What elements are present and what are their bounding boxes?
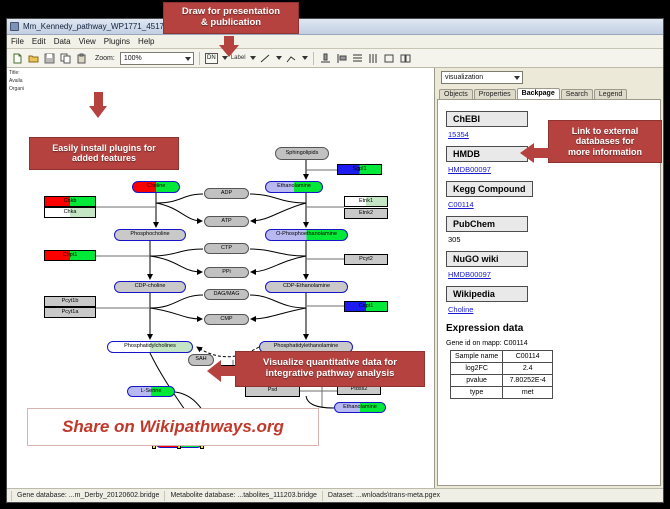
expression-row: log2FC2.4 bbox=[451, 363, 553, 375]
pathway-node-ethanolamine-bottom[interactable]: Ethanolamine bbox=[334, 402, 386, 413]
database-value-hmdb[interactable]: HMDB00097 bbox=[448, 165, 654, 174]
pathway-node-label: Etnk2 bbox=[359, 211, 373, 217]
pathway-node-label: SAH bbox=[195, 357, 206, 363]
pathway-node-label: Phosphocholine bbox=[130, 232, 169, 238]
app-icon bbox=[10, 22, 19, 31]
open-folder-icon[interactable] bbox=[27, 52, 40, 65]
menu-item-view[interactable]: View bbox=[79, 37, 96, 46]
new-file-icon[interactable] bbox=[11, 52, 24, 65]
pathway-node-sgpl1[interactable]: Sgpl1 bbox=[337, 164, 382, 175]
zoom-select[interactable]: 100% bbox=[120, 52, 194, 65]
pathway-node-chpt1[interactable]: Chpt1 bbox=[44, 250, 96, 261]
expression-value: met bbox=[503, 387, 553, 399]
pathway-node-ethanolamine-top[interactable]: Ethanolamine bbox=[265, 181, 323, 193]
pathway-node-label: Ethanolamine bbox=[343, 405, 377, 411]
gene-id-on-mapp: Gene id on mapp: C00114 bbox=[446, 340, 654, 347]
zoom-value: 100% bbox=[124, 55, 142, 62]
pathway-node-sphingolipids[interactable]: Sphingolipids bbox=[275, 147, 329, 160]
pathway-node-label: ATP bbox=[221, 219, 231, 225]
database-header-nugo-wiki: NuGO wiki bbox=[446, 251, 528, 267]
pathway-node-label: Psd bbox=[268, 388, 277, 394]
callout-line: & publication bbox=[167, 18, 295, 29]
pathway-node-chkb[interactable]: Chkb bbox=[44, 196, 96, 207]
callout-line: Link to external bbox=[552, 126, 658, 136]
stack-vertical-icon[interactable] bbox=[351, 52, 364, 65]
pathway-node-ctp[interactable]: CTP bbox=[204, 243, 249, 254]
pathway-canvas[interactable]: Title: Availa Organi bbox=[7, 68, 435, 488]
database-value-wikipedia[interactable]: Choline bbox=[448, 305, 654, 314]
align-bottom-icon[interactable] bbox=[319, 52, 332, 65]
expression-key: log2FC bbox=[451, 363, 503, 375]
pathway-node-choline-top[interactable]: Choline bbox=[132, 181, 180, 193]
menu-item-data[interactable]: Data bbox=[54, 37, 71, 46]
pathvisio-window: Mm_Kennedy_pathway_WP1771_45176.gpml Fil… bbox=[6, 18, 664, 503]
pathway-node-label: Chkb bbox=[64, 199, 77, 205]
menu-item-plugins[interactable]: Plugins bbox=[104, 37, 130, 46]
anchor-line-icon[interactable] bbox=[285, 52, 298, 65]
callout-arrow-stem bbox=[534, 148, 550, 158]
pathway-node-pcyt1b[interactable]: Pcyt1b bbox=[44, 296, 96, 307]
callout-arrow-left bbox=[207, 360, 221, 382]
tab-objects[interactable]: Objects bbox=[439, 89, 473, 99]
expression-row: pvalue7.80252E-4 bbox=[451, 375, 553, 387]
expression-row: typemet bbox=[451, 387, 553, 399]
expression-value: 7.80252E-4 bbox=[503, 375, 553, 387]
callout-link-external-db: Link to external databases for more info… bbox=[548, 120, 662, 163]
pathway-node-cdp-ethanolamine[interactable]: CDP-Ethanolamine bbox=[265, 281, 348, 293]
pathway-node-label: Sgpl1 bbox=[352, 167, 366, 173]
callout-arrow-down bbox=[219, 45, 239, 57]
status-bar: Gene database: ...m_Derby_20120602.bridg… bbox=[7, 488, 663, 502]
database-header-pubchem: PubChem bbox=[446, 216, 528, 232]
expression-table: Sample nameC00114log2FC2.4pvalue7.80252E… bbox=[450, 350, 553, 399]
chevron-down-icon bbox=[514, 76, 520, 80]
callout-draw-for-publication: Draw for presentation & publication bbox=[163, 2, 299, 34]
tab-backpage[interactable]: Backpage bbox=[517, 88, 560, 99]
chevron-down-icon bbox=[185, 57, 191, 61]
pathway-node-label: L-Serine bbox=[141, 389, 162, 395]
line-icon[interactable] bbox=[259, 52, 272, 65]
group-icon[interactable] bbox=[383, 52, 396, 65]
visualization-select[interactable]: visualization bbox=[441, 71, 523, 84]
pathway-node-etnk2[interactable]: Etnk2 bbox=[344, 208, 388, 219]
pathway-node-label: Pcyt1b bbox=[62, 299, 79, 305]
chevron-down-icon[interactable] bbox=[250, 56, 256, 60]
callout-line: Easily install plugins for bbox=[34, 143, 174, 153]
visualization-value: visualization bbox=[445, 74, 483, 81]
pathway-node-label: Phosphatidylcholines bbox=[124, 344, 176, 350]
tab-properties[interactable]: Properties bbox=[474, 89, 516, 99]
expression-data-header: Expression data bbox=[446, 323, 654, 334]
pathway-node-cept1[interactable]: Cept1 bbox=[344, 301, 388, 312]
title-bar: Mm_Kennedy_pathway_WP1771_45176.gpml bbox=[7, 19, 663, 35]
callout-line: integrative pathway analysis bbox=[240, 369, 420, 380]
callout-arrow-stem bbox=[220, 366, 237, 376]
toolbar-divider bbox=[199, 52, 200, 65]
database-value-pubchem: 305 bbox=[448, 235, 654, 244]
pathway-node-label: Pcyt1a bbox=[62, 310, 79, 316]
pathway-node-l-serine-left[interactable]: L-Serine bbox=[127, 386, 175, 397]
pathway-node-label: Ptdss2 bbox=[351, 387, 368, 393]
zoom-label: Zoom: bbox=[95, 55, 115, 62]
pathway-node-label: Choline bbox=[147, 184, 166, 190]
toolbar-divider bbox=[313, 52, 314, 65]
callout-visualize-quant-data: Visualize quantitative data for integrat… bbox=[235, 351, 425, 387]
pathway-node-dag-mag[interactable]: DAG/MAG bbox=[204, 289, 249, 300]
callout-line: more information bbox=[552, 147, 658, 157]
pathway-node-label: Phosphatidylethanolamine bbox=[274, 344, 339, 350]
share-banner: Share on Wikipathways.org bbox=[27, 408, 319, 446]
status-metabolite-database: Metabolite database: ...tabolites_111203… bbox=[164, 491, 321, 501]
pathway-node-label: ADP bbox=[221, 191, 232, 197]
pathway-node-etnk1[interactable]: Etnk1 bbox=[344, 196, 388, 207]
database-header-wikipedia: Wikipedia bbox=[446, 286, 528, 302]
datanode-icon[interactable]: DN bbox=[205, 53, 218, 64]
toolbar: Zoom: 100% DN Label bbox=[7, 49, 663, 68]
callout-line: databases for bbox=[552, 136, 658, 146]
pathway-node-o-phosphoethanolamine[interactable]: O-Phosphoethanolamine bbox=[265, 229, 348, 241]
pathway-node-label: Etnk1 bbox=[359, 199, 373, 205]
pathway-node-cdp-choline[interactable]: CDP-choline bbox=[114, 281, 186, 293]
database-header-kegg-compound: Kegg Compound bbox=[446, 181, 533, 197]
menu-item-file[interactable]: File bbox=[11, 37, 24, 46]
pathway-node-phosphatidylcholines[interactable]: Phosphatidylcholines bbox=[107, 341, 193, 353]
status-gene-database: Gene database: ...m_Derby_20120602.bridg… bbox=[11, 491, 164, 501]
distribute-icon[interactable] bbox=[367, 52, 380, 65]
copy-icon[interactable] bbox=[59, 52, 72, 65]
pathway-node-cmp[interactable]: CMP bbox=[204, 314, 249, 325]
pathway-node-label: O-Phosphoethanolamine bbox=[276, 232, 337, 238]
pathway-node-label: Pcyt2 bbox=[359, 257, 373, 263]
callout-arrow-stem bbox=[94, 92, 103, 108]
expression-value: 2.4 bbox=[503, 363, 553, 375]
side-tabs: Objects Properties Backpage Search Legen… bbox=[435, 86, 663, 99]
pathway-node-label: CDP-Ethanolamine bbox=[283, 284, 330, 290]
pathway-node-label: Sphingolipids bbox=[286, 151, 319, 157]
chevron-down-icon[interactable] bbox=[302, 56, 308, 60]
pathway-node-pcyt1a[interactable]: Pcyt1a bbox=[44, 307, 96, 318]
pathway-node-phosphocholine[interactable]: Phosphocholine bbox=[114, 229, 186, 241]
pathway-node-label: Chka bbox=[64, 210, 77, 216]
pathway-node-label: PPi bbox=[222, 270, 231, 276]
pathway-node-pcyt2[interactable]: Pcyt2 bbox=[344, 254, 388, 265]
pathway-node-ppi[interactable]: PPi bbox=[204, 267, 249, 278]
menu-item-help[interactable]: Help bbox=[138, 37, 154, 46]
tab-search[interactable]: Search bbox=[561, 89, 593, 99]
pathway-node-label: CMP bbox=[220, 317, 232, 323]
pathway-node-label: CDP-choline bbox=[135, 284, 166, 290]
ungroup-icon[interactable] bbox=[399, 52, 412, 65]
menu-item-edit[interactable]: Edit bbox=[32, 37, 46, 46]
expression-key: type bbox=[451, 387, 503, 399]
chevron-down-icon[interactable] bbox=[276, 56, 282, 60]
align-left-icon[interactable] bbox=[335, 52, 348, 65]
database-value-kegg-compound[interactable]: C00114 bbox=[448, 200, 654, 209]
database-header-chebi: ChEBI bbox=[446, 111, 528, 127]
pathway-node-chka[interactable]: Chka bbox=[44, 207, 96, 218]
visualization-row: visualization bbox=[435, 68, 663, 86]
pathway-node-label: Chpt1 bbox=[63, 253, 78, 259]
callout-easily-install-plugins: Easily install plugins for added feature… bbox=[29, 137, 179, 170]
pathway-node-label: DAG/MAG bbox=[214, 292, 240, 298]
database-header-hmdb: HMDB bbox=[446, 146, 528, 162]
expression-value: C00114 bbox=[503, 351, 553, 363]
menu-bar: File Edit Data View Plugins Help bbox=[7, 35, 663, 49]
expression-row: Sample nameC00114 bbox=[451, 351, 553, 363]
save-icon[interactable] bbox=[43, 52, 56, 65]
database-value-nugo-wiki[interactable]: HMDB00097 bbox=[448, 270, 654, 279]
callout-arrow-left bbox=[520, 143, 534, 163]
expression-key: pvalue bbox=[451, 375, 503, 387]
tab-legend[interactable]: Legend bbox=[594, 89, 627, 99]
pathway-node-label: Ethanolamine bbox=[277, 184, 311, 190]
expression-key: Sample name bbox=[451, 351, 503, 363]
paste-icon[interactable] bbox=[75, 52, 88, 65]
pathway-node-atp[interactable]: ATP bbox=[204, 216, 249, 227]
pathway-node-label: Cept1 bbox=[359, 304, 374, 310]
pathway-node-label: CTP bbox=[221, 246, 232, 252]
callout-line: added features bbox=[34, 153, 174, 163]
pathway-node-adp[interactable]: ADP bbox=[204, 188, 249, 199]
status-dataset: Dataset: ...wnloads\trans-meta.pgex bbox=[322, 491, 445, 501]
